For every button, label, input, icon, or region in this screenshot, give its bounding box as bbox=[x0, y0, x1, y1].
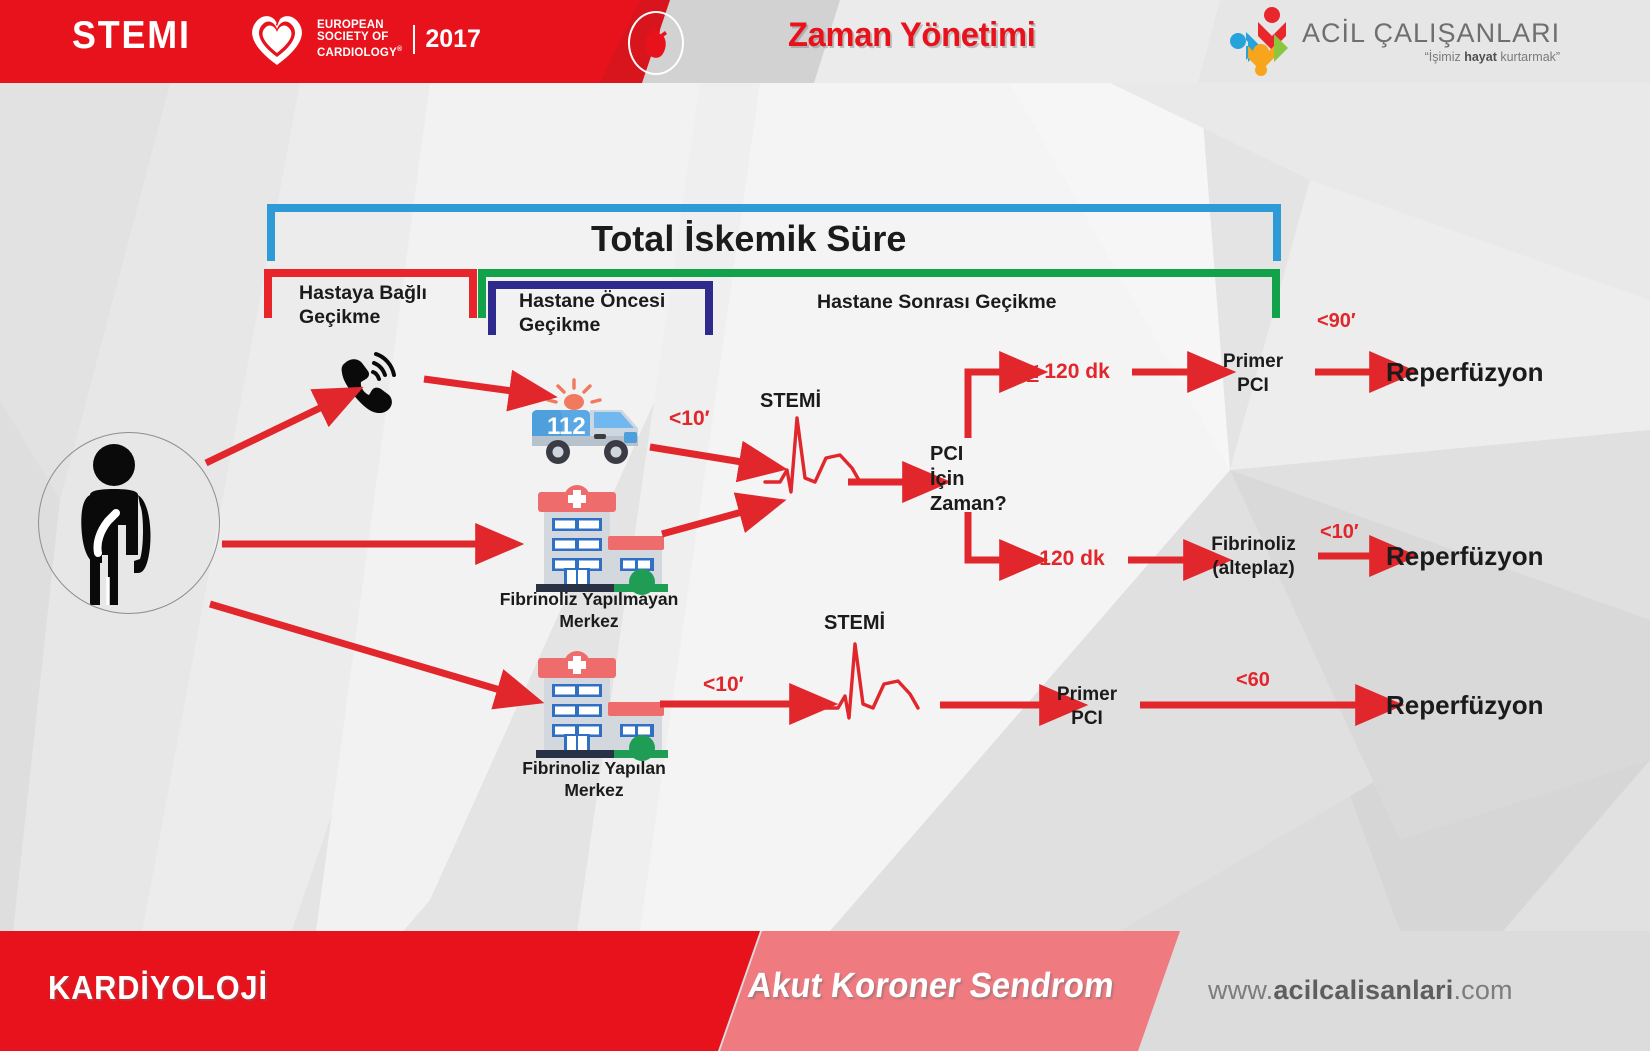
arrow-decision-gt120 bbox=[968, 512, 1002, 560]
arrow-patient-to-center-fibrinolysis bbox=[210, 604, 500, 690]
arrow-decision-le120 bbox=[968, 372, 1002, 438]
branch-label-le-120: ≤ 120 dk bbox=[1027, 360, 1110, 384]
time-label-90: <90′ bbox=[1317, 310, 1356, 333]
time-label-to-ecg-bottom: <10′ bbox=[703, 673, 744, 697]
diagram-canvas: 112 bbox=[0, 0, 1650, 1051]
hospital-icon bbox=[536, 651, 668, 761]
footer-category: KARDİYOLOJİ bbox=[48, 969, 268, 1007]
bracket-label-posthospital-delay: Hastane Sonrası Geçikme bbox=[817, 290, 1057, 314]
ecg-stemi-waveform-icon bbox=[765, 418, 860, 492]
time-label-10: <10′ bbox=[1320, 521, 1359, 544]
stemi-label-top: STEMİ bbox=[760, 389, 821, 414]
ecg-stemi-waveform-icon bbox=[823, 644, 918, 718]
arrow-patient-to-phone bbox=[206, 407, 322, 463]
ambulance-112-icon: 112 bbox=[532, 380, 638, 464]
time-label-60: <60 bbox=[1236, 669, 1270, 692]
infographic-page: STEMI EUROPEAN SOCIETY OF CARDIOLOGY® 20… bbox=[0, 0, 1650, 1051]
footer-subject: Akut Koroner Sendrom bbox=[746, 966, 1117, 1006]
stemi-label-bottom: STEMİ bbox=[824, 611, 885, 636]
patient-circle-frame bbox=[38, 432, 220, 614]
outcome-reperfusion-mid: Reperfüzyon bbox=[1386, 541, 1543, 572]
arrow-phone-to-ambulance bbox=[424, 379, 512, 391]
bracket-label-patient-delay: Hastaya BağlıGeçikme bbox=[299, 281, 474, 329]
svg-text:112: 112 bbox=[547, 413, 586, 440]
phone-ringing-icon bbox=[342, 354, 394, 413]
primary-pci-bottom: PrimerPCI bbox=[1032, 683, 1142, 731]
footer-url[interactable]: www.acilcalisanlari.com bbox=[1208, 975, 1513, 1006]
branch-label-gt-120: >120 dk bbox=[1027, 547, 1105, 571]
center-label-fibrinolysis: Fibrinoliz YapılanMerkez bbox=[504, 757, 684, 801]
outcome-reperfusion-top: Reperfüzyon bbox=[1386, 357, 1543, 388]
bracket-label-prehospital-delay: Hastane ÖncesiGeçikme bbox=[519, 289, 714, 337]
primary-pci-top: PrimerPCI bbox=[1198, 350, 1308, 398]
arrow-center-no-fibrinolysis-to-ecg bbox=[662, 512, 742, 534]
decision-node-pci-time: PCIİçinZaman? bbox=[930, 442, 1007, 517]
center-label-no-fibrinolysis: Fibrinoliz YapılmayanMerkez bbox=[484, 588, 694, 632]
bracket-label-total-ischemic: Total İskemik Süre bbox=[591, 218, 906, 260]
fibrinolysis-node: Fibrinoliz(alteplaz) bbox=[1186, 533, 1321, 581]
time-label-to-ecg-top: <10′ bbox=[669, 407, 710, 431]
hospital-icon bbox=[536, 485, 668, 595]
arrow-ambulance-to-ecg bbox=[650, 447, 742, 462]
outcome-reperfusion-bottom: Reperfüzyon bbox=[1386, 690, 1543, 721]
footer-bar: KARDİYOLOJİ Akut Koroner Sendrom www.aci… bbox=[0, 931, 1650, 1051]
